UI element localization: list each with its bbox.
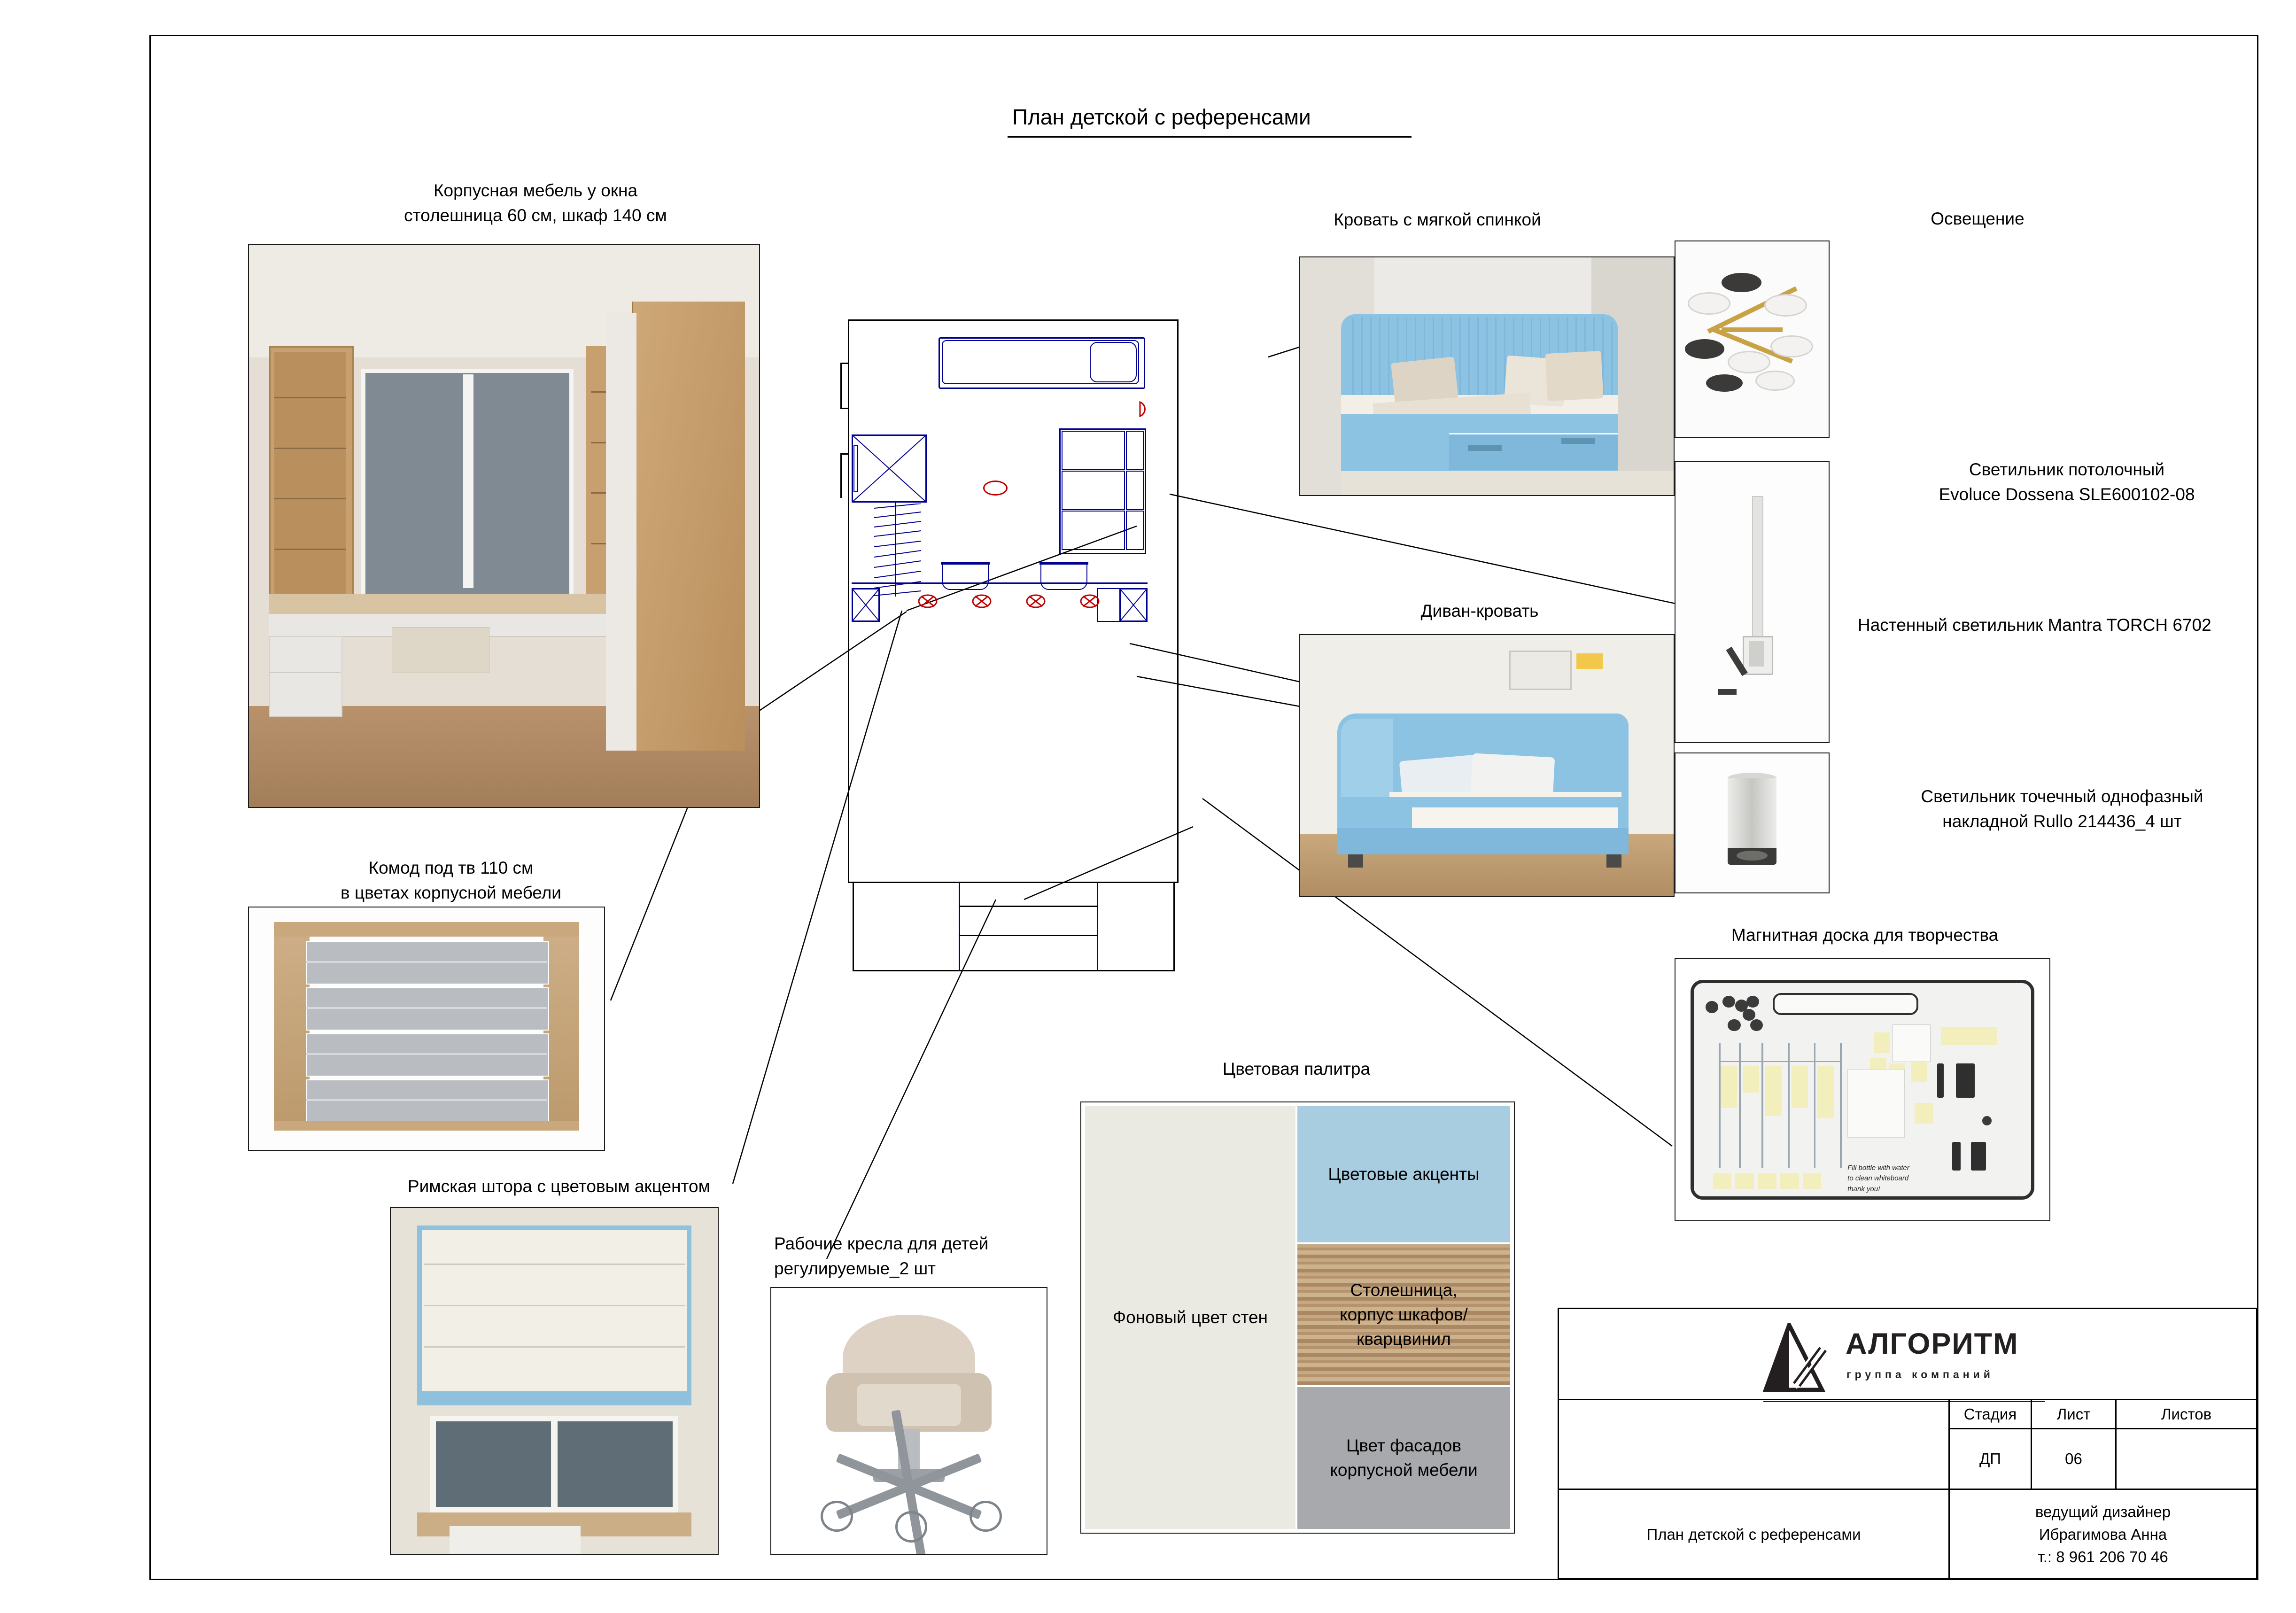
swatch-label: Фоновый цвет стен bbox=[1113, 1305, 1268, 1330]
photo-ceiling-lamp bbox=[1675, 240, 1830, 438]
cell-sheet-value: 06 bbox=[2032, 1429, 2117, 1490]
label-chairs: Рабочие кресла для детей регулируемые_2 … bbox=[774, 1232, 1103, 1281]
swatch-label: Цветовые акценты bbox=[1328, 1162, 1479, 1186]
plan-bed-pillow bbox=[1090, 342, 1137, 382]
label-lighting: Освещение bbox=[1846, 207, 2109, 232]
plan-wall-niche-3 bbox=[840, 408, 849, 409]
ceiling-light-symbol bbox=[983, 481, 1008, 496]
plan-cabinet-left-cross bbox=[852, 588, 880, 622]
title-block-blank-cell bbox=[1559, 1400, 1950, 1490]
plan-sofa-seat-2 bbox=[1062, 471, 1125, 510]
plan-sofa-back-2 bbox=[1126, 471, 1144, 510]
label-dresser: Комод под тв 110 см в цветах корпусной м… bbox=[254, 856, 648, 905]
swatch-worktop-wood: Столешница, корпус шкафов/ кварцвинил bbox=[1297, 1244, 1510, 1385]
floor-plan bbox=[848, 319, 1210, 975]
drawing-sheet: План детской с референсами Корпусная меб… bbox=[0, 0, 2296, 1613]
label-cabinetry: Корпусная мебель у окна столешница 60 см… bbox=[357, 178, 714, 228]
photo-wall-lamp bbox=[1675, 461, 1830, 743]
cell-stage-value: ДП bbox=[1950, 1429, 2032, 1490]
label-ceiling-lamp: Светильник потолочный Evoluce Dossena SL… bbox=[1832, 458, 2296, 507]
title-block: АЛГОРИТМ группа компаний Стадия Лист Лис… bbox=[1558, 1308, 2257, 1579]
plan-balcony-rail-2 bbox=[1097, 882, 1098, 971]
photo-bed bbox=[1299, 256, 1675, 496]
page-title: План детской с референсами bbox=[1012, 104, 1311, 130]
logo-company-sub: группа компаний bbox=[1846, 1368, 1994, 1381]
title-underline bbox=[1008, 136, 1412, 138]
label-sofa-bed: Диван-кровать bbox=[1325, 599, 1635, 624]
swatch-accent: Цветовые акценты bbox=[1297, 1106, 1510, 1242]
photo-cabinetry bbox=[248, 244, 760, 808]
plan-chair-2 bbox=[1040, 564, 1087, 590]
plan-chair-1 bbox=[942, 564, 989, 590]
label-wall-lamp: Настенный светильник Mantra TORCH 6702 bbox=[1858, 613, 2296, 638]
designer-role: ведущий дизайнер bbox=[2035, 1501, 2171, 1523]
photo-sofa-bed bbox=[1299, 634, 1675, 897]
label-magnetic-board: Магнитная доска для творчества bbox=[1670, 923, 2060, 948]
swatch-label: Столешница, корпус шкафов/ кварцвинил bbox=[1340, 1278, 1468, 1351]
designer-name: Ибрагимова Анна bbox=[2039, 1523, 2167, 1546]
col-header-stage: Стадия bbox=[1950, 1400, 2032, 1429]
spot-light-symbols bbox=[918, 592, 1106, 611]
plan-balcony-outline bbox=[853, 882, 1175, 971]
label-spot-lamp: Светильник точечный однофазный накладной… bbox=[1827, 784, 2296, 834]
cell-designer-info: ведущий дизайнер Ибрагимова Анна т.: 8 9… bbox=[1950, 1490, 2256, 1579]
board-note: Fill bottle with water to clean whiteboa… bbox=[1847, 1163, 1909, 1195]
plan-sofa-seat-3 bbox=[1062, 511, 1125, 550]
photo-spot-lamp bbox=[1675, 752, 1830, 893]
label-bed: Кровать с мягкой спинкой bbox=[1268, 208, 1606, 233]
title-block-logo-cell: АЛГОРИТМ группа компаний bbox=[1559, 1309, 2256, 1400]
photo-dresser bbox=[248, 907, 605, 1151]
plan-wall-niche-2 bbox=[840, 363, 842, 409]
plan-wall-niche-4 bbox=[840, 453, 842, 498]
photo-magnetic-board: Fill bottle with water to clean whiteboa… bbox=[1675, 958, 2050, 1221]
plan-chair-1-back bbox=[941, 562, 990, 565]
algoritm-logo-icon bbox=[1761, 1323, 1841, 1394]
plan-balcony-step-2 bbox=[959, 906, 1098, 907]
plan-worktop bbox=[852, 582, 1148, 584]
color-palette: Фоновый цвет стен Цветовые акценты Столе… bbox=[1080, 1101, 1515, 1534]
plan-balcony-step-1 bbox=[959, 935, 1098, 936]
designer-phone: т.: 8 961 206 70 46 bbox=[2038, 1546, 2168, 1568]
plan-chair-2-back bbox=[1039, 562, 1088, 565]
label-roman-blind: Римская штора с цветовым акцентом bbox=[380, 1174, 737, 1199]
col-header-sheet: Лист bbox=[2032, 1400, 2117, 1429]
label-palette-title: Цветовая палитра bbox=[1118, 1057, 1475, 1082]
logo-company-name: АЛГОРИТМ bbox=[1846, 1327, 2019, 1361]
swatch-label: Цвет фасадов корпусной мебели bbox=[1330, 1434, 1477, 1482]
cell-sheets-value bbox=[2117, 1429, 2256, 1490]
plan-balcony-rail-1 bbox=[959, 882, 960, 971]
wall-sconce-symbol bbox=[1137, 400, 1153, 418]
swatch-facade-gray: Цвет фасадов корпусной мебели bbox=[1297, 1387, 1510, 1529]
col-header-sheets: Листов bbox=[2117, 1400, 2256, 1429]
photo-roman-blind bbox=[390, 1207, 719, 1555]
photo-chair bbox=[770, 1287, 1047, 1555]
plan-wardrobe-cross bbox=[852, 434, 927, 503]
plan-sofa-back-3 bbox=[1126, 511, 1144, 550]
plan-wall-niche-5 bbox=[840, 453, 849, 455]
swatch-wall-background: Фоновый цвет стен bbox=[1085, 1106, 1295, 1529]
plan-sofa-back-1 bbox=[1126, 431, 1144, 470]
cell-drawing-name: План детской с референсами bbox=[1559, 1490, 1950, 1579]
plan-wardrobe-door bbox=[853, 445, 858, 492]
plan-sofa-seat-1 bbox=[1062, 431, 1125, 470]
plan-cabinet-right-cross bbox=[1119, 588, 1148, 622]
company-logo: АЛГОРИТМ группа компаний bbox=[1756, 1318, 2048, 1394]
